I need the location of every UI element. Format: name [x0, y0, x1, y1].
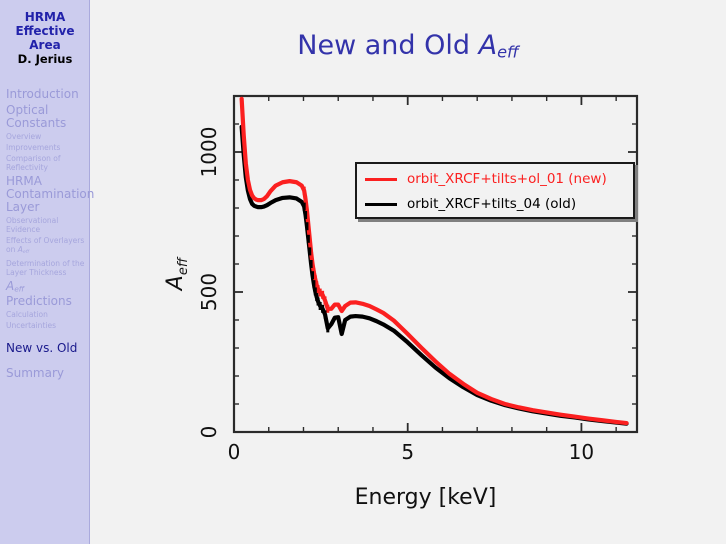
sidebar-item-introduction[interactable]: Introduction: [0, 88, 90, 101]
x-tick-label: 0: [228, 440, 241, 464]
chart-svg: 051005001000Energy [keV]Aeff: [150, 80, 680, 510]
legend-swatch-old: [365, 203, 397, 206]
sidebar-item-hrma-contamination-layer[interactable]: HRMA Contamination Layer: [0, 175, 90, 214]
sidebar-item-calculation[interactable]: Calculation: [0, 310, 90, 319]
x-tick-label: 10: [569, 440, 594, 464]
chart-axes: [234, 96, 637, 432]
page-title-subscript: eff: [497, 43, 519, 62]
series-line-new: [242, 99, 627, 423]
y-tick-label: 500: [197, 273, 221, 311]
legend-swatch-new: [365, 178, 397, 181]
slide-canvas: HRMA Effective Area D. Jerius Introducti…: [0, 0, 726, 544]
sidebar-title-line2: Effective Area: [0, 24, 90, 52]
sidebar-item-improvements[interactable]: Improvements: [0, 143, 90, 152]
legend-label-old: orbit_XRCF+tilts_04 (old): [407, 196, 576, 212]
sidebar-item-optical-constants[interactable]: Optical Constants: [0, 104, 90, 130]
sidebar-item-aeff-predictions[interactable]: Aeff Predictions: [0, 280, 90, 308]
page-title: New and Old Aeff: [90, 30, 726, 62]
page-title-text: New and Old: [297, 30, 478, 61]
x-axis-label: Energy [keV]: [355, 485, 497, 510]
sidebar-author: D. Jerius: [0, 52, 90, 66]
sidebar-item-comparison-of-reflectivity[interactable]: Comparison of Reflectivity: [0, 154, 90, 172]
chart-legend: orbit_XRCF+tilts+ol_01 (new) orbit_XRCF+…: [355, 162, 635, 219]
chart-series-group: [242, 99, 627, 424]
sidebar-item-observational-evidence[interactable]: Observational Evidence: [0, 216, 90, 234]
y-tick-label: 1000: [197, 127, 221, 178]
legend-label-new: orbit_XRCF+tilts+ol_01 (new): [407, 171, 607, 187]
page-title-symbol: A: [479, 30, 497, 61]
legend-entry-old: orbit_XRCF+tilts_04 (old): [365, 192, 576, 216]
sidebar-title-line1: HRMA: [0, 10, 90, 24]
sidebar-item-new-vs-old[interactable]: New vs. Old: [0, 342, 90, 355]
sidebar-item-effects-of-overlayers[interactable]: Effects of Overlayers on Aeff: [0, 236, 90, 257]
sidebar-item-overview[interactable]: Overview: [0, 132, 90, 141]
x-tick-label: 5: [401, 440, 414, 464]
sidebar-item-summary[interactable]: Summary: [0, 367, 90, 380]
sidebar-navigation: HRMA Effective Area D. Jerius Introducti…: [0, 0, 90, 544]
sidebar-item-determination-of-layer-thickness[interactable]: Determination of the Layer Thickness: [0, 259, 90, 277]
y-tick-label: 0: [197, 426, 221, 439]
sidebar-item-uncertainties[interactable]: Uncertainties: [0, 321, 90, 330]
chart-frame: [234, 96, 637, 432]
legend-entry-new: orbit_XRCF+tilts+ol_01 (new): [365, 167, 607, 191]
sidebar-item-list: Introduction Optical Constants Overview …: [0, 85, 90, 380]
y-axis-label: Aeff: [163, 256, 191, 292]
chart-plot: 051005001000Energy [keV]Aeff: [150, 80, 680, 510]
sidebar-header: HRMA Effective Area: [0, 10, 90, 52]
